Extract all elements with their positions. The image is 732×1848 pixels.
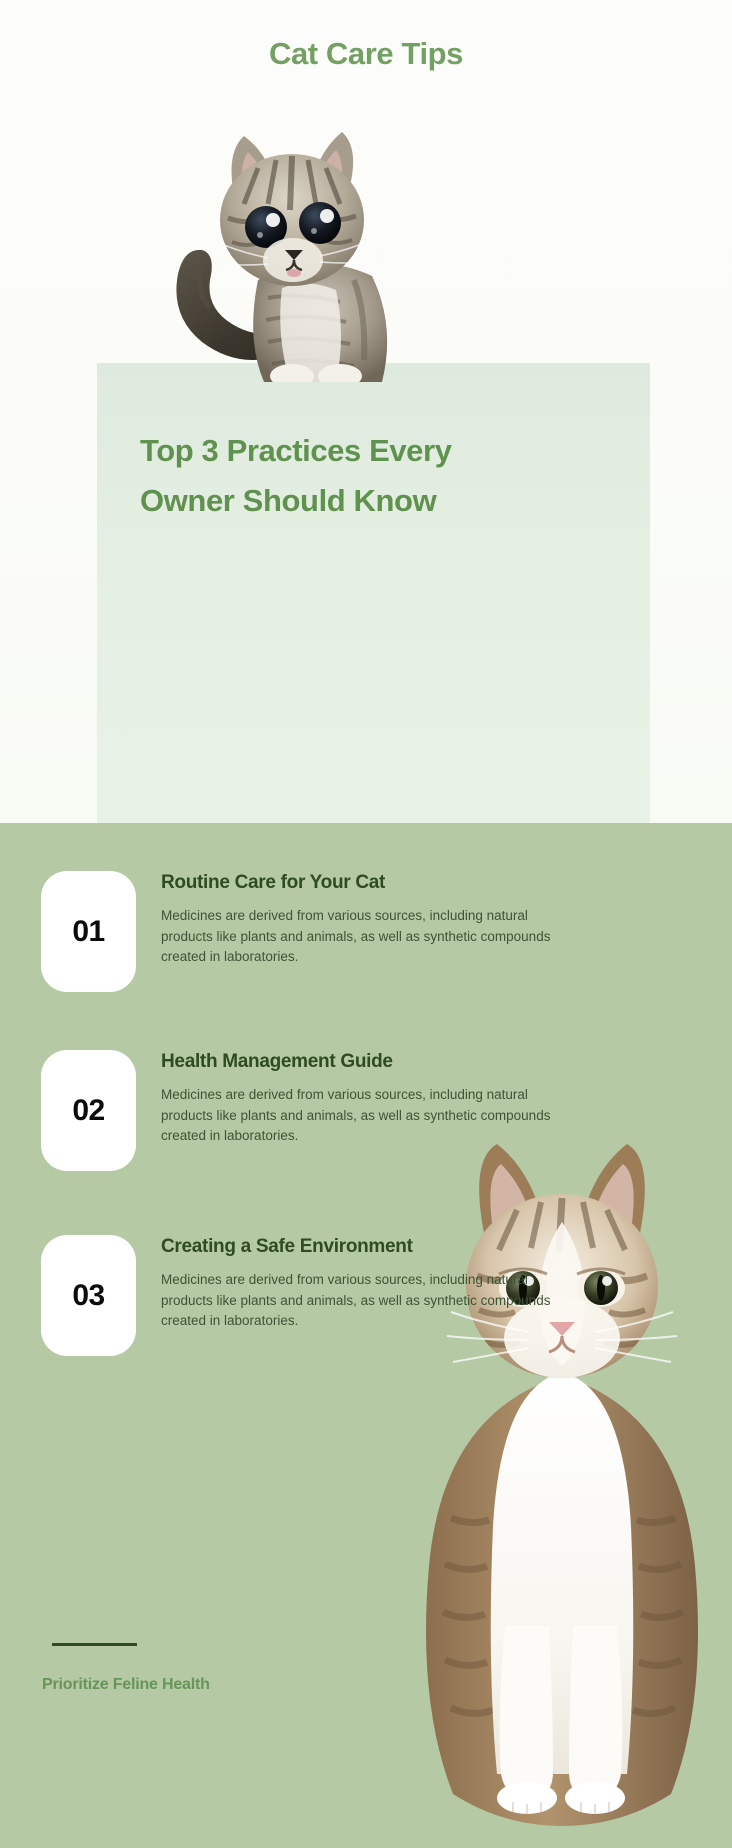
tip-heading: Creating a Safe Environment [161,1235,591,1259]
hero-heading: Top 3 Practices Every Owner Should Know [140,426,540,526]
tip-heading: Health Management Guide [161,1050,591,1074]
list-item: 03 Creating a Safe Environment Medicines… [0,1235,732,1391]
infographic-poster: Cat Care Tips [0,0,732,1848]
tip-body: Medicines are derived from various sourc… [161,1085,581,1147]
tip-number-badge: 03 [41,1235,136,1356]
tip-text-block: Health Management Guide Medicines are de… [161,1050,591,1147]
list-item: 01 Routine Care for Your Cat Medicines a… [0,871,732,1027]
footer-tagline: Prioritize Feline Health [42,1676,402,1694]
list-item: 02 Health Management Guide Medicines are… [0,1050,732,1206]
tips-section: 01 Routine Care for Your Cat Medicines a… [0,823,732,1848]
tabby-kitten-photo [140,92,440,382]
tip-body: Medicines are derived from various sourc… [161,1270,581,1332]
page-title: Cat Care Tips [0,36,732,72]
tip-number-badge: 01 [41,871,136,992]
tip-body: Medicines are derived from various sourc… [161,906,581,968]
tip-heading: Routine Care for Your Cat [161,871,591,895]
tip-text-block: Creating a Safe Environment Medicines ar… [161,1235,591,1332]
footer: Prioritize Feline Health [42,1643,402,1694]
footer-divider [52,1643,137,1646]
top-section: Cat Care Tips [0,0,732,823]
tip-text-block: Routine Care for Your Cat Medicines are … [161,871,591,968]
tip-number-badge: 02 [41,1050,136,1171]
